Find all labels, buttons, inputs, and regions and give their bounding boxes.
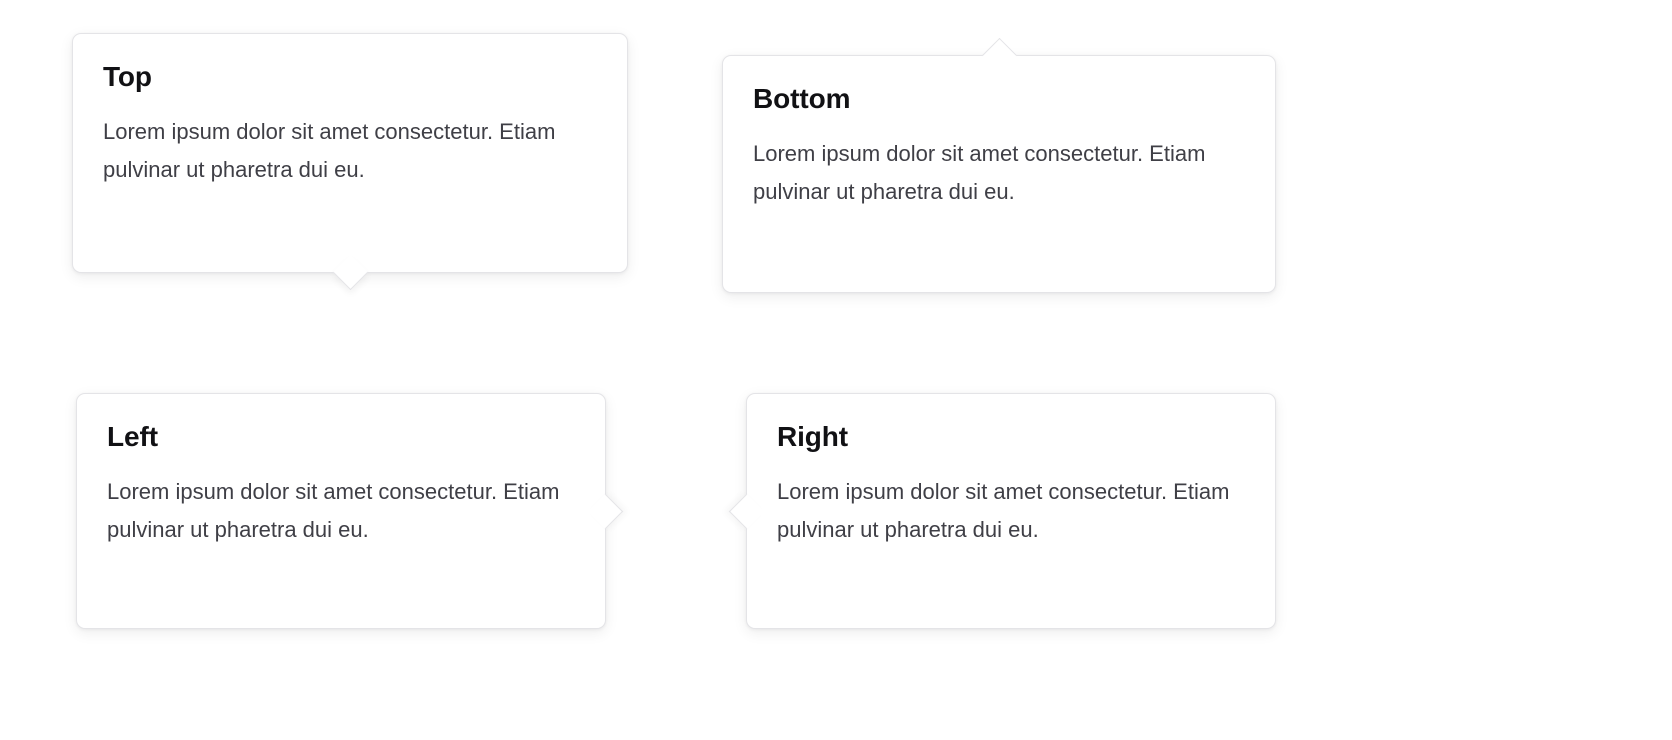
popover-title: Right [777,420,1245,453]
popover-title: Bottom [753,82,1245,115]
popover-title: Top [103,60,597,93]
popover-top[interactable]: Top Lorem ipsum dolor sit amet consectet… [72,33,628,273]
popover-body: Lorem ipsum dolor sit amet consectetur. … [777,473,1245,549]
popover-arrow-left-icon [729,494,764,529]
popover-arrow-up-icon [982,38,1017,73]
popover-left[interactable]: Left Lorem ipsum dolor sit amet consecte… [76,393,606,629]
popover-bottom[interactable]: Bottom Lorem ipsum dolor sit amet consec… [722,55,1276,293]
popover-arrow-down-icon [333,255,368,290]
popover-showcase: Top Lorem ipsum dolor sit amet consectet… [0,0,1672,740]
popover-arrow-right-icon [588,494,623,529]
popover-right[interactable]: Right Lorem ipsum dolor sit amet consect… [746,393,1276,629]
popover-title: Left [107,420,575,453]
popover-body: Lorem ipsum dolor sit amet consectetur. … [103,113,597,189]
popover-body: Lorem ipsum dolor sit amet consectetur. … [107,473,575,549]
popover-body: Lorem ipsum dolor sit amet consectetur. … [753,135,1245,211]
